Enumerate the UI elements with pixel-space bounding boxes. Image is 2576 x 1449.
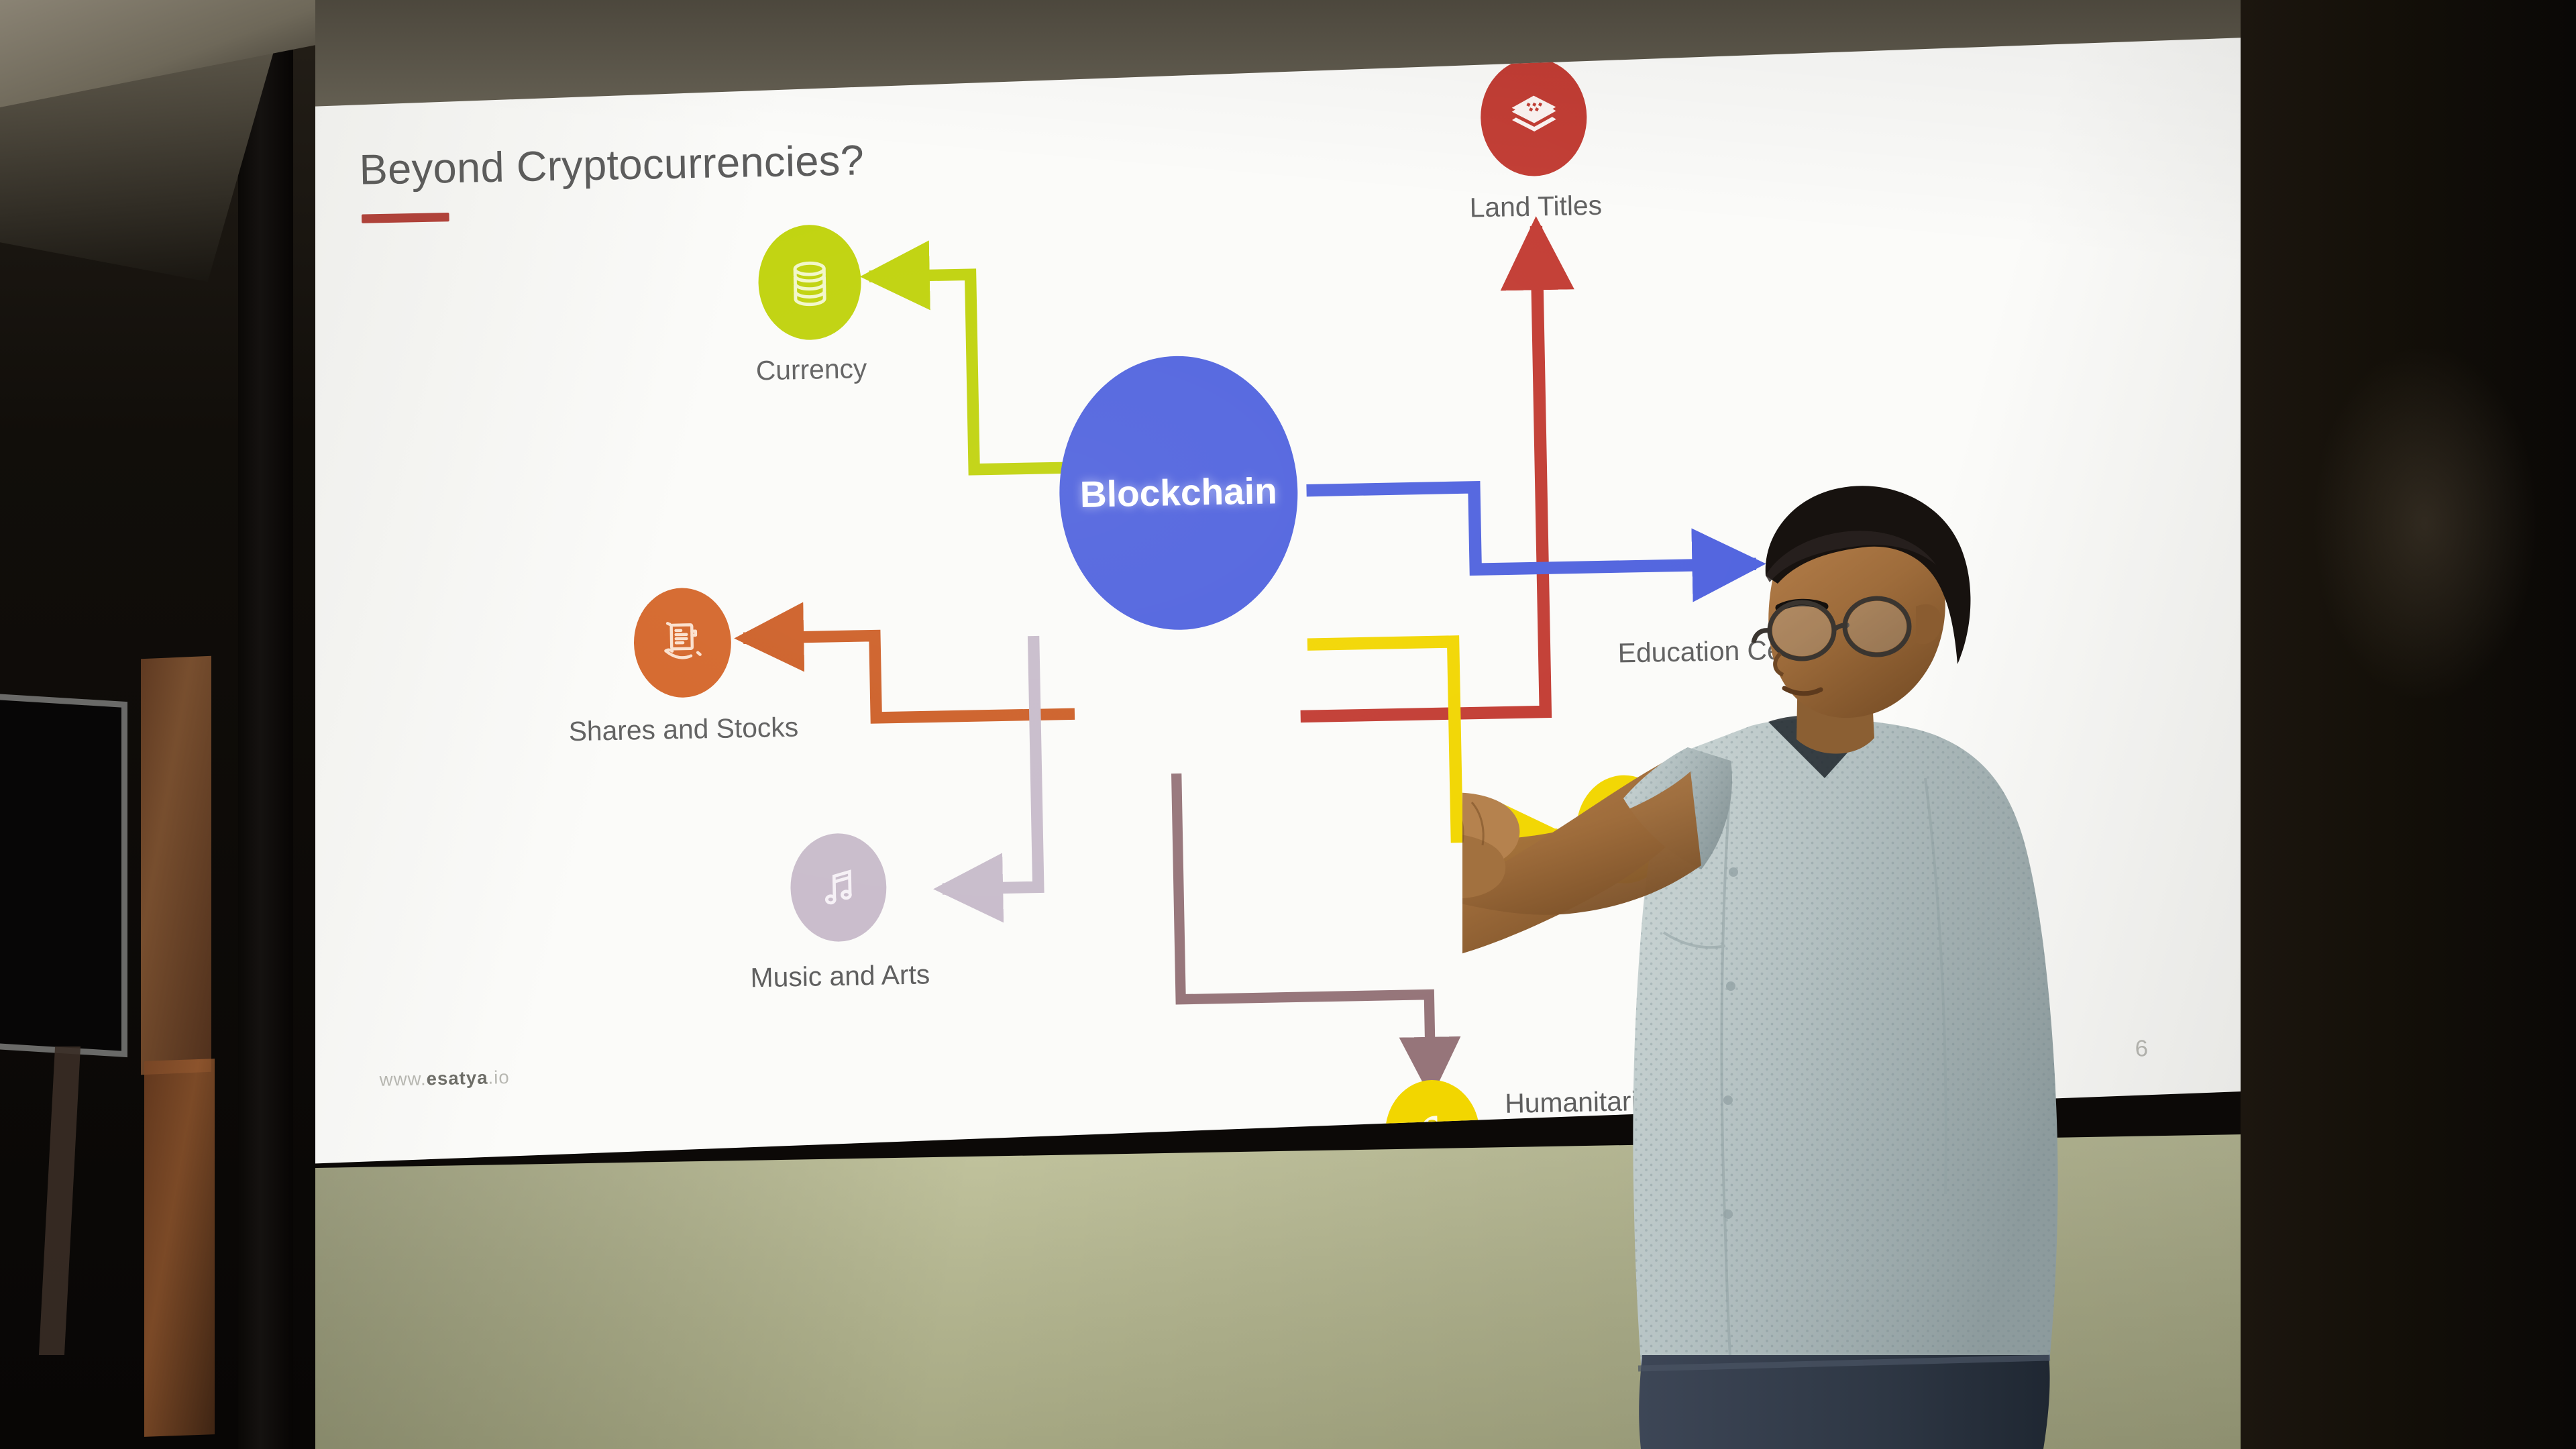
wood-panel-upper	[141, 656, 211, 1075]
wall-monitor	[0, 694, 127, 1057]
wood-panel-lower	[144, 1059, 215, 1437]
connector-currency	[869, 272, 1070, 471]
shares-label: Shares and Stocks	[568, 712, 798, 747]
connector-humanitarian	[1177, 769, 1431, 1095]
currency-label: Currency	[755, 354, 867, 386]
hub-label: Blockchain	[1079, 470, 1277, 516]
connector-shares	[743, 632, 1075, 720]
presenter	[1462, 463, 2308, 1449]
music-note-icon	[812, 862, 864, 914]
music-label: Music and Arts	[750, 960, 930, 994]
hand-document-icon	[655, 615, 710, 671]
connector-music	[938, 636, 1038, 889]
pillar	[238, 27, 293, 1449]
conference-room-scene: Beyond Cryptocurrencies?	[0, 0, 2576, 1449]
layers-stack-icon	[1504, 87, 1564, 147]
right-wall-glow	[2314, 349, 2536, 698]
land-label: Land Titles	[1469, 191, 1602, 224]
coins-stack-icon	[781, 254, 838, 311]
